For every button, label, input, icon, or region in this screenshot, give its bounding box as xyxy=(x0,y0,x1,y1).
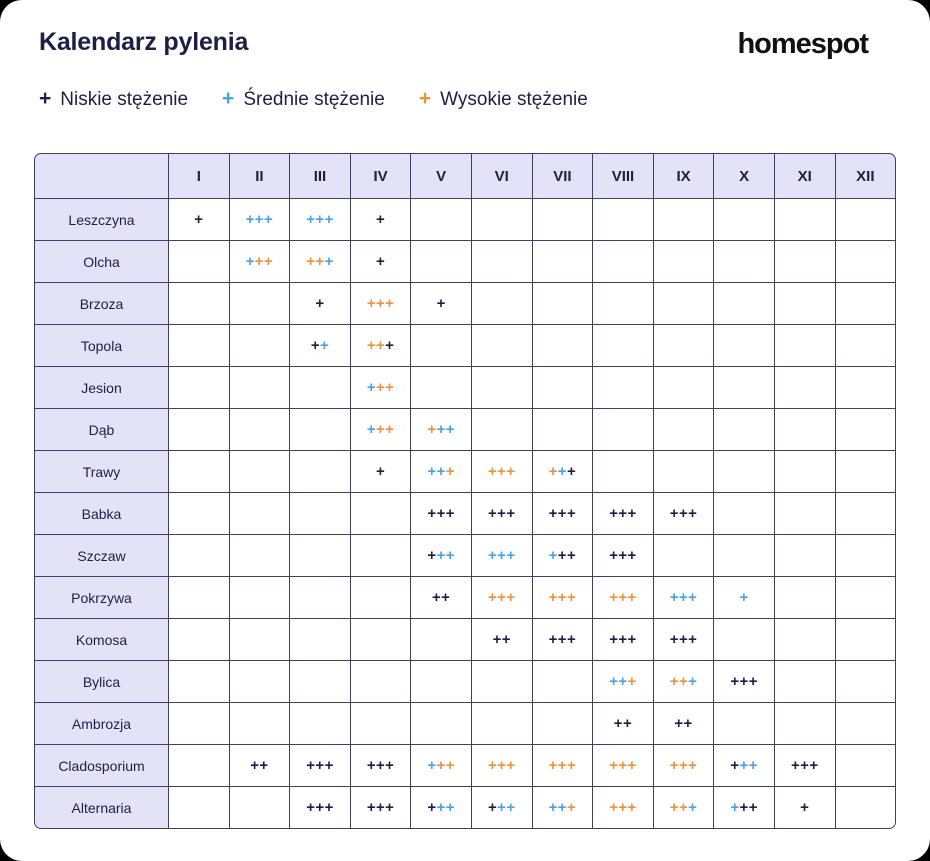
plus-icon: + xyxy=(325,211,334,228)
intensity-cell xyxy=(169,661,230,703)
intensity-cell xyxy=(775,283,836,325)
plus-icon: + xyxy=(376,379,385,396)
intensity-cell: +++ xyxy=(775,745,836,787)
intensity-cell xyxy=(775,703,836,745)
intensity-cell xyxy=(290,493,351,535)
plus-icon: + xyxy=(558,547,567,564)
month-header-III: III xyxy=(290,153,351,199)
intensity-cell xyxy=(775,409,836,451)
plus-icon: + xyxy=(446,463,455,480)
plus-icon: + xyxy=(558,631,567,648)
plus-icon: + xyxy=(567,799,576,816)
pollen-calendar-table: IIIIIIIVVVIVIIVIIIIXXXIXII Leszczyna++++… xyxy=(34,153,896,829)
plus-icon: + xyxy=(618,673,627,690)
intensity-cell xyxy=(472,367,533,409)
intensity-cell xyxy=(775,451,836,493)
intensity-cell xyxy=(714,703,775,745)
plus-icon: + xyxy=(730,757,739,774)
intensity-cell xyxy=(775,535,836,577)
intensity-cell xyxy=(169,703,230,745)
intensity-cell: +++ xyxy=(411,745,472,787)
plus-icon: + xyxy=(194,211,203,228)
plus-icon: + xyxy=(628,799,637,816)
intensity-cell: +++ xyxy=(654,745,715,787)
intensity-cell xyxy=(411,241,472,283)
plus-icon: + xyxy=(367,295,376,312)
month-header-X: X xyxy=(714,153,775,199)
plus-icon: + xyxy=(740,589,749,606)
intensity-cell: +++ xyxy=(533,451,594,493)
intensity-cell xyxy=(351,661,412,703)
table-header-row: IIIIIIIVVVIVIIVIIIIXXXIXII xyxy=(34,153,896,199)
intensity-cell: +++ xyxy=(654,619,715,661)
month-header-VIII: VIII xyxy=(593,153,654,199)
intensity-cell xyxy=(775,493,836,535)
page-title: Kalendarz pylenia xyxy=(39,28,248,57)
intensity-cell xyxy=(533,241,594,283)
plus-icon: + xyxy=(427,547,436,564)
plus-icon: + xyxy=(446,547,455,564)
plus-icon: + xyxy=(488,505,497,522)
plus-icon: + xyxy=(688,505,697,522)
plus-icon: + xyxy=(255,211,264,228)
intensity-cell xyxy=(230,703,291,745)
table-row: Alternaria+++++++++++++++++++++++++ xyxy=(34,787,896,829)
plus-icon: + xyxy=(549,757,558,774)
plus-icon: + xyxy=(549,589,558,606)
intensity-cell: +++ xyxy=(654,787,715,829)
plus-icon: + xyxy=(609,631,618,648)
intensity-cell: +++ xyxy=(411,493,472,535)
intensity-cell xyxy=(714,493,775,535)
intensity-cell: +++ xyxy=(593,787,654,829)
intensity-cell: ++ xyxy=(654,703,715,745)
intensity-cell xyxy=(169,367,230,409)
table-row: Topola+++++ xyxy=(34,325,896,367)
plus-icon: + xyxy=(558,757,567,774)
intensity-cell xyxy=(351,577,412,619)
plus-icon: + xyxy=(497,463,506,480)
intensity-cell xyxy=(654,535,715,577)
plant-label-topola: Topola xyxy=(34,325,169,367)
intensity-cell: +++ xyxy=(593,493,654,535)
intensity-cell xyxy=(472,325,533,367)
plus-icon: + xyxy=(376,337,385,354)
plus-icon: + xyxy=(688,631,697,648)
intensity-cell: +++ xyxy=(593,619,654,661)
intensity-cell: +++ xyxy=(230,199,291,241)
plus-icon: + xyxy=(446,757,455,774)
intensity-cell xyxy=(593,199,654,241)
intensity-cell xyxy=(775,199,836,241)
table-row: Babka+++++++++++++++ xyxy=(34,493,896,535)
plus-icon: + xyxy=(730,673,739,690)
plus-icon: + xyxy=(628,589,637,606)
plus-icon: + xyxy=(670,505,679,522)
intensity-cell xyxy=(169,241,230,283)
plus-icon: + xyxy=(488,463,497,480)
plus-icon: + xyxy=(502,631,511,648)
plus-icon: + xyxy=(674,715,683,732)
plus-icon: + xyxy=(367,799,376,816)
intensity-cell xyxy=(836,199,897,241)
plant-label-jesion: Jesion xyxy=(34,367,169,409)
plus-icon: + xyxy=(558,799,567,816)
intensity-cell xyxy=(230,451,291,493)
plus-icon: + xyxy=(385,337,394,354)
plant-label-ambrozja: Ambrozja xyxy=(34,703,169,745)
intensity-cell xyxy=(533,703,594,745)
plus-icon: + xyxy=(670,589,679,606)
plus-icon: + xyxy=(549,547,558,564)
intensity-cell xyxy=(472,409,533,451)
plus-icon: + xyxy=(558,463,567,480)
plus-icon: + xyxy=(419,88,431,109)
plus-icon: + xyxy=(437,799,446,816)
plus-icon: + xyxy=(311,337,320,354)
intensity-cell xyxy=(714,535,775,577)
intensity-cell: +++ xyxy=(533,787,594,829)
plus-icon: + xyxy=(749,673,758,690)
plus-icon: + xyxy=(688,673,697,690)
plus-icon: + xyxy=(800,757,809,774)
intensity-cell: ++ xyxy=(230,745,291,787)
plus-icon: + xyxy=(688,757,697,774)
plus-icon: + xyxy=(385,295,394,312)
plus-icon: + xyxy=(497,799,506,816)
intensity-cell: ++ xyxy=(290,325,351,367)
brand-logo: homespot xyxy=(737,28,868,61)
intensity-cell: +++ xyxy=(290,787,351,829)
plus-icon: + xyxy=(791,757,800,774)
plant-label-brzoza: Brzoza xyxy=(34,283,169,325)
plus-icon: + xyxy=(506,799,515,816)
intensity-cell: +++ xyxy=(593,577,654,619)
plus-icon: + xyxy=(628,673,637,690)
intensity-cell xyxy=(169,619,230,661)
plus-icon: + xyxy=(567,589,576,606)
intensity-cell: +++ xyxy=(654,577,715,619)
plus-icon: + xyxy=(306,253,315,270)
intensity-cell xyxy=(533,367,594,409)
intensity-cell: +++ xyxy=(472,745,533,787)
plus-icon: + xyxy=(315,757,324,774)
intensity-cell xyxy=(836,745,897,787)
intensity-cell: ++ xyxy=(593,703,654,745)
intensity-cell: +++ xyxy=(290,241,351,283)
plant-label-alternaria: Alternaria xyxy=(34,787,169,829)
plus-icon: + xyxy=(749,757,758,774)
intensity-cell: +++ xyxy=(533,535,594,577)
intensity-cell xyxy=(836,577,897,619)
plus-icon: + xyxy=(488,799,497,816)
month-header-IV: IV xyxy=(351,153,412,199)
intensity-cell xyxy=(775,577,836,619)
plus-icon: + xyxy=(493,631,502,648)
intensity-cell xyxy=(775,325,836,367)
table-row: Cladosporium++++++++++++++++++++++++++++… xyxy=(34,745,896,787)
plus-icon: + xyxy=(315,295,324,312)
plus-icon: + xyxy=(740,757,749,774)
intensity-cell: +++ xyxy=(290,199,351,241)
plus-icon: + xyxy=(446,505,455,522)
plus-icon: + xyxy=(385,757,394,774)
intensity-cell xyxy=(836,367,897,409)
plus-icon: + xyxy=(367,379,376,396)
intensity-cell xyxy=(351,703,412,745)
plus-icon: + xyxy=(740,673,749,690)
plus-icon: + xyxy=(376,799,385,816)
plus-icon: + xyxy=(376,295,385,312)
plus-icon: + xyxy=(623,715,632,732)
intensity-cell: +++ xyxy=(593,745,654,787)
intensity-cell: +++ xyxy=(472,787,533,829)
plus-icon: + xyxy=(567,631,576,648)
intensity-cell: +++ xyxy=(593,661,654,703)
plus-icon: + xyxy=(432,589,441,606)
intensity-cell: +++ xyxy=(533,619,594,661)
intensity-cell xyxy=(775,661,836,703)
plus-icon: + xyxy=(618,631,627,648)
plus-icon: + xyxy=(264,253,273,270)
plus-icon: + xyxy=(549,463,558,480)
intensity-cell xyxy=(714,283,775,325)
plus-icon: + xyxy=(385,799,394,816)
plant-label-pokrzywa: Pokrzywa xyxy=(34,577,169,619)
intensity-cell: ++ xyxy=(411,577,472,619)
plus-icon: + xyxy=(609,799,618,816)
intensity-cell xyxy=(230,367,291,409)
table-header: IIIIIIIVVVIVIIVIIIIXXXIXII xyxy=(34,153,896,199)
intensity-cell xyxy=(836,493,897,535)
plus-icon: + xyxy=(367,337,376,354)
intensity-cell xyxy=(169,493,230,535)
intensity-cell xyxy=(836,661,897,703)
intensity-cell: +++ xyxy=(351,787,412,829)
intensity-cell: +++ xyxy=(533,493,594,535)
table-row: Trawy++++++++++ xyxy=(34,451,896,493)
intensity-cell xyxy=(472,241,533,283)
intensity-cell xyxy=(230,493,291,535)
card-header: Kalendarz pylenia homespot xyxy=(34,22,896,74)
intensity-cell: +++ xyxy=(533,745,594,787)
intensity-cell xyxy=(351,535,412,577)
intensity-cell xyxy=(533,409,594,451)
plus-icon: + xyxy=(376,211,385,228)
intensity-cell xyxy=(714,325,775,367)
intensity-cell xyxy=(472,661,533,703)
plus-icon: + xyxy=(670,673,679,690)
plus-icon: + xyxy=(376,253,385,270)
plant-label-dąb: Dąb xyxy=(34,409,169,451)
plus-icon: + xyxy=(567,547,576,564)
plus-icon: + xyxy=(427,421,436,438)
month-header-IX: IX xyxy=(654,153,715,199)
plus-icon: + xyxy=(259,757,268,774)
intensity-cell xyxy=(593,325,654,367)
plus-icon: + xyxy=(497,547,506,564)
plus-icon: + xyxy=(446,799,455,816)
intensity-cell xyxy=(290,577,351,619)
plus-icon: + xyxy=(506,589,515,606)
intensity-cell xyxy=(411,199,472,241)
intensity-cell xyxy=(169,451,230,493)
legend-item-medium: +Średnie stężenie xyxy=(222,88,385,109)
plus-icon: + xyxy=(385,421,394,438)
intensity-cell: + xyxy=(775,787,836,829)
plus-icon: + xyxy=(376,757,385,774)
plus-icon: + xyxy=(367,757,376,774)
plant-label-bylica: Bylica xyxy=(34,661,169,703)
plus-icon: + xyxy=(385,379,394,396)
plus-icon: + xyxy=(427,757,436,774)
plus-icon: + xyxy=(246,211,255,228)
intensity-cell: +++ xyxy=(472,451,533,493)
plus-icon: + xyxy=(325,799,334,816)
intensity-cell: + xyxy=(351,199,412,241)
intensity-cell xyxy=(593,451,654,493)
intensity-cell: +++ xyxy=(714,745,775,787)
intensity-cell xyxy=(411,325,472,367)
plant-label-olcha: Olcha xyxy=(34,241,169,283)
intensity-cell xyxy=(290,661,351,703)
plus-icon: + xyxy=(609,589,618,606)
intensity-cell: + xyxy=(169,199,230,241)
intensity-cell: +++ xyxy=(351,409,412,451)
plus-icon: + xyxy=(437,547,446,564)
intensity-cell xyxy=(836,409,897,451)
intensity-cell xyxy=(775,367,836,409)
plus-icon: + xyxy=(437,505,446,522)
plus-icon: + xyxy=(679,799,688,816)
plus-icon: + xyxy=(679,631,688,648)
intensity-cell xyxy=(169,409,230,451)
intensity-cell: +++ xyxy=(411,409,472,451)
intensity-cell xyxy=(411,619,472,661)
table-row: Pokrzywa+++++++++++++++ xyxy=(34,577,896,619)
plus-icon: + xyxy=(255,253,264,270)
plus-icon: + xyxy=(437,757,446,774)
intensity-cell xyxy=(654,325,715,367)
plus-icon: + xyxy=(618,589,627,606)
intensity-cell xyxy=(593,409,654,451)
intensity-cell: + xyxy=(290,283,351,325)
plus-icon: + xyxy=(497,505,506,522)
intensity-cell: +++ xyxy=(290,745,351,787)
plant-label-babka: Babka xyxy=(34,493,169,535)
intensity-cell xyxy=(169,745,230,787)
month-header-II: II xyxy=(230,153,291,199)
plus-icon: + xyxy=(679,505,688,522)
intensity-cell xyxy=(836,703,897,745)
intensity-cell: +++ xyxy=(472,535,533,577)
intensity-cell xyxy=(775,241,836,283)
month-header-V: V xyxy=(411,153,472,199)
intensity-cell xyxy=(230,283,291,325)
plus-icon: + xyxy=(809,757,818,774)
plus-icon: + xyxy=(506,505,515,522)
plus-icon: + xyxy=(488,757,497,774)
legend-item-label: Niskie stężenie xyxy=(60,90,188,109)
intensity-cell xyxy=(654,451,715,493)
table-row: Komosa+++++++++++ xyxy=(34,619,896,661)
plus-icon: + xyxy=(315,211,324,228)
intensity-cell xyxy=(472,199,533,241)
plus-icon: + xyxy=(628,547,637,564)
plus-icon: + xyxy=(684,715,693,732)
plus-icon: + xyxy=(39,88,51,109)
plus-icon: + xyxy=(427,463,436,480)
plus-icon: + xyxy=(488,547,497,564)
intensity-cell xyxy=(230,577,291,619)
plus-icon: + xyxy=(437,421,446,438)
plus-icon: + xyxy=(558,589,567,606)
intensity-cell xyxy=(714,199,775,241)
intensity-cell xyxy=(836,283,897,325)
intensity-cell xyxy=(472,703,533,745)
intensity-cell xyxy=(714,241,775,283)
intensity-cell xyxy=(230,325,291,367)
plus-icon: + xyxy=(441,589,450,606)
intensity-cell xyxy=(654,241,715,283)
intensity-cell: +++ xyxy=(230,241,291,283)
intensity-cell xyxy=(290,535,351,577)
plus-icon: + xyxy=(670,757,679,774)
intensity-cell xyxy=(169,535,230,577)
plant-label-cladosporium: Cladosporium xyxy=(34,745,169,787)
intensity-cell xyxy=(714,409,775,451)
table-row: Olcha+++++++ xyxy=(34,241,896,283)
plus-icon: + xyxy=(628,505,637,522)
intensity-cell xyxy=(411,661,472,703)
intensity-cell xyxy=(593,367,654,409)
table-body: Leszczyna++++++++Olcha+++++++Brzoza+++++… xyxy=(34,199,896,829)
plus-icon: + xyxy=(427,799,436,816)
plus-icon: + xyxy=(222,88,234,109)
plus-icon: + xyxy=(306,757,315,774)
intensity-cell xyxy=(593,241,654,283)
plus-icon: + xyxy=(609,757,618,774)
plus-icon: + xyxy=(488,589,497,606)
intensity-cell xyxy=(775,619,836,661)
plus-icon: + xyxy=(670,631,679,648)
intensity-cell xyxy=(169,577,230,619)
plus-icon: + xyxy=(749,799,758,816)
plus-icon: + xyxy=(315,253,324,270)
plus-icon: + xyxy=(688,589,697,606)
intensity-cell xyxy=(714,619,775,661)
intensity-cell xyxy=(714,451,775,493)
intensity-cell xyxy=(836,451,897,493)
intensity-cell: +++ xyxy=(714,787,775,829)
table-row: Szczaw++++++++++++ xyxy=(34,535,896,577)
plus-icon: + xyxy=(679,757,688,774)
intensity-cell xyxy=(411,703,472,745)
intensity-cell: + xyxy=(411,283,472,325)
intensity-cell xyxy=(836,787,897,829)
intensity-cell xyxy=(533,325,594,367)
plus-icon: + xyxy=(325,253,334,270)
plus-icon: + xyxy=(506,547,515,564)
table-row: Dąb++++++ xyxy=(34,409,896,451)
intensity-cell xyxy=(533,283,594,325)
intensity-cell: + xyxy=(351,241,412,283)
intensity-cell xyxy=(836,535,897,577)
plus-icon: + xyxy=(618,505,627,522)
intensity-cell: + xyxy=(351,451,412,493)
intensity-cell xyxy=(230,787,291,829)
plus-icon: + xyxy=(246,253,255,270)
